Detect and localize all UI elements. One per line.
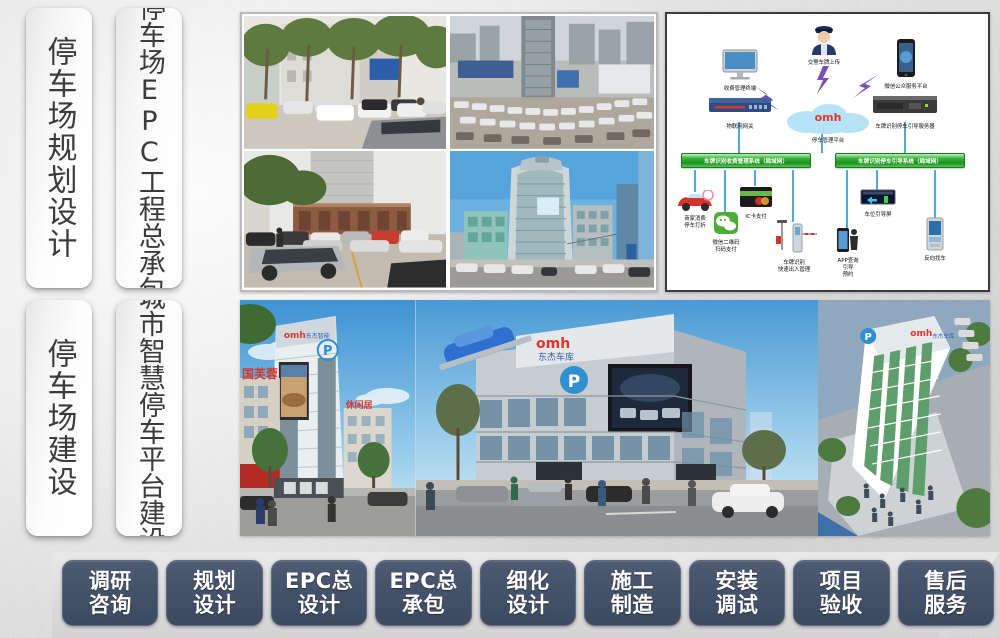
leaf-label: 反向找车: [913, 256, 957, 263]
node-label: 车牌识别停车引导服务器: [863, 124, 947, 131]
svg-text:P: P: [323, 344, 333, 359]
step-line2: 调试: [715, 593, 758, 617]
leaf-parking-guidance-screen: 车位引导屏: [855, 188, 901, 219]
step-line2: 服务: [924, 593, 967, 617]
sidebar-card-label: 停车场建设: [41, 338, 76, 498]
architecture-diagram: omh 停车管理平台 收费管理终端: [667, 14, 988, 290]
leaf-label: 车位引导屏: [855, 212, 901, 219]
step-line1: EPC总: [389, 569, 457, 593]
step-line1: 细化: [506, 569, 549, 593]
process-step-epc-design[interactable]: EPC总 设计: [271, 560, 367, 626]
leaf-wechat-qr-payment: 微信二维码 扫码支付: [703, 210, 749, 254]
photo-aerial-parking-lot: [450, 16, 654, 149]
leaf-lpr-fast-access-control: 车牌识别 快速出入管理: [767, 216, 821, 274]
step-line2: 制造: [611, 593, 654, 617]
photo-office-tower-streetview: [450, 151, 654, 288]
step-line1: 售后: [924, 569, 967, 593]
sidebar-card-parking-planning-design[interactable]: 停车场规划设计: [26, 8, 92, 288]
system-architecture-panel: omh 停车管理平台 收费管理终端: [665, 12, 990, 292]
node-iot-gateway: 物联网网关: [705, 92, 775, 131]
process-step-project-acceptance[interactable]: 项目 验收: [793, 560, 889, 626]
svg-text:omh: omh: [536, 336, 570, 352]
red-car-icon: [673, 190, 717, 212]
leaf-label: 车牌识别 快速出入管理: [767, 260, 821, 274]
cloud-icon: omh: [785, 102, 871, 134]
step-line1: 调研: [89, 569, 132, 593]
iot-gateway-icon: [705, 92, 775, 120]
step-line2: 设计: [506, 593, 549, 617]
sidebar-card-urban-smart-parking-platform[interactable]: 城市智慧停车平台建设: [116, 300, 182, 536]
svg-text:omh: omh: [815, 111, 842, 124]
step-line1: 项目: [820, 569, 863, 593]
node-label: 交警车牌上传: [800, 60, 848, 67]
render-mechanical-parking-tower: omh 东杰智能 P: [240, 300, 416, 536]
step-line1: 安装: [715, 569, 758, 593]
node-label: 物联网网关: [705, 124, 775, 131]
barrier-gate-icon: [767, 216, 821, 256]
sidebar-card-label: 停车场EPC工程总承包: [134, 8, 164, 288]
kiosk-icon: [913, 216, 957, 252]
svg-text:东杰车库: 东杰车库: [932, 332, 955, 340]
svg-text:东杰智能: 东杰智能: [306, 332, 330, 340]
step-line1: 规划: [193, 569, 236, 593]
svg-text:P: P: [567, 372, 579, 392]
subsystem-bar-lpr-charging-management[interactable]: 车牌识别收费管理系统（局域网）: [681, 153, 811, 168]
process-step-detailed-design[interactable]: 细化 设计: [480, 560, 576, 626]
process-step-installation-commissioning[interactable]: 安装 调试: [689, 560, 785, 626]
step-line2: 咨询: [89, 593, 132, 617]
leaf-app-query-guidance-booking: APP查询 引导 预约: [825, 226, 871, 278]
step-line1: 施工: [611, 569, 654, 593]
leaf-reverse-car-finding: 反向找车: [913, 216, 957, 263]
svg-text:omh: omh: [284, 331, 306, 341]
app-phone-icon: [825, 226, 871, 254]
smartphone-icon: [872, 38, 940, 80]
rack-server-icon: [863, 92, 947, 120]
sidebar-card-label: 停车场规划设计: [41, 36, 76, 260]
wechat-icon: [703, 210, 749, 236]
render-parking-garage-facade: omh 东杰车库 P: [416, 300, 818, 536]
led-guidance-screen-icon: [855, 188, 901, 208]
step-line2: 验收: [820, 593, 863, 617]
sidebar-card-parking-construction[interactable]: 停车场建设: [26, 300, 92, 536]
cloud-platform-node: omh 停车管理平台: [785, 102, 871, 145]
process-step-construction-manufacturing[interactable]: 施工 制造: [584, 560, 680, 626]
photo-collage: [244, 16, 654, 288]
sidebar-card-parking-epc-general-contracting[interactable]: 停车场EPC工程总承包: [116, 8, 182, 288]
traffic-police-icon: [800, 24, 848, 56]
svg-text:国芙蓉: 国芙蓉: [242, 366, 278, 381]
cloud-platform-label: 停车管理平台: [785, 138, 871, 145]
ic-card-icon: [735, 184, 777, 210]
building-renderings-panel: omh 东杰智能 P: [240, 300, 990, 536]
node-traffic-police-upload: 交警车牌上传: [800, 24, 848, 67]
photo-parking-lot-brick-building: [244, 151, 446, 288]
desktop-monitor-icon: [715, 48, 765, 82]
process-step-research-consulting[interactable]: 调研 咨询: [62, 560, 158, 626]
svg-text:休闲居: 休闲居: [345, 399, 373, 411]
process-step-epc-contracting[interactable]: EPC总 承包: [375, 560, 471, 626]
process-step-after-sales-service[interactable]: 售后 服务: [898, 560, 994, 626]
sidebar-card-label: 城市智慧停车平台建设: [134, 300, 164, 536]
process-step-planning-design[interactable]: 规划 设计: [166, 560, 262, 626]
project-lifecycle-bar: 调研 咨询 规划 设计 EPC总 设计 EPC总 承包 细化 设计 施工 制造 …: [52, 552, 1000, 638]
step-line2: 承包: [402, 593, 445, 617]
node-label: 微信公众服务平台: [872, 84, 940, 91]
render-aerial-parking-tower: omh 东杰车库 P: [818, 300, 991, 536]
node-charging-management-terminal: 收费管理终端: [715, 48, 765, 93]
slide-root: 停车场规划设计 停车场EPC工程总承包 停车场建设 城市智慧停车平台建设: [0, 0, 1000, 638]
parking-site-photo-panel: [240, 12, 658, 292]
photo-surface-parking-lot: [244, 16, 446, 149]
node-lpr-parking-guidance-server: 车牌识别停车引导服务器: [863, 92, 947, 131]
leaf-label: APP查询 引导 预约: [825, 258, 871, 278]
step-line2: 设计: [298, 593, 341, 617]
step-line1: EPC总: [285, 569, 353, 593]
svg-text:P: P: [864, 332, 871, 343]
leaf-label: 微信二维码 扫码支付: [703, 240, 749, 254]
step-line2: 设计: [193, 593, 236, 617]
svg-text:omh: omh: [910, 329, 932, 339]
svg-text:东杰车库: 东杰车库: [538, 351, 574, 363]
node-wechat-public-service-platform: 微信公众服务平台: [872, 38, 940, 91]
subsystem-bar-lpr-parking-guidance[interactable]: 车牌识别停车引导系统（局域网）: [835, 153, 965, 168]
